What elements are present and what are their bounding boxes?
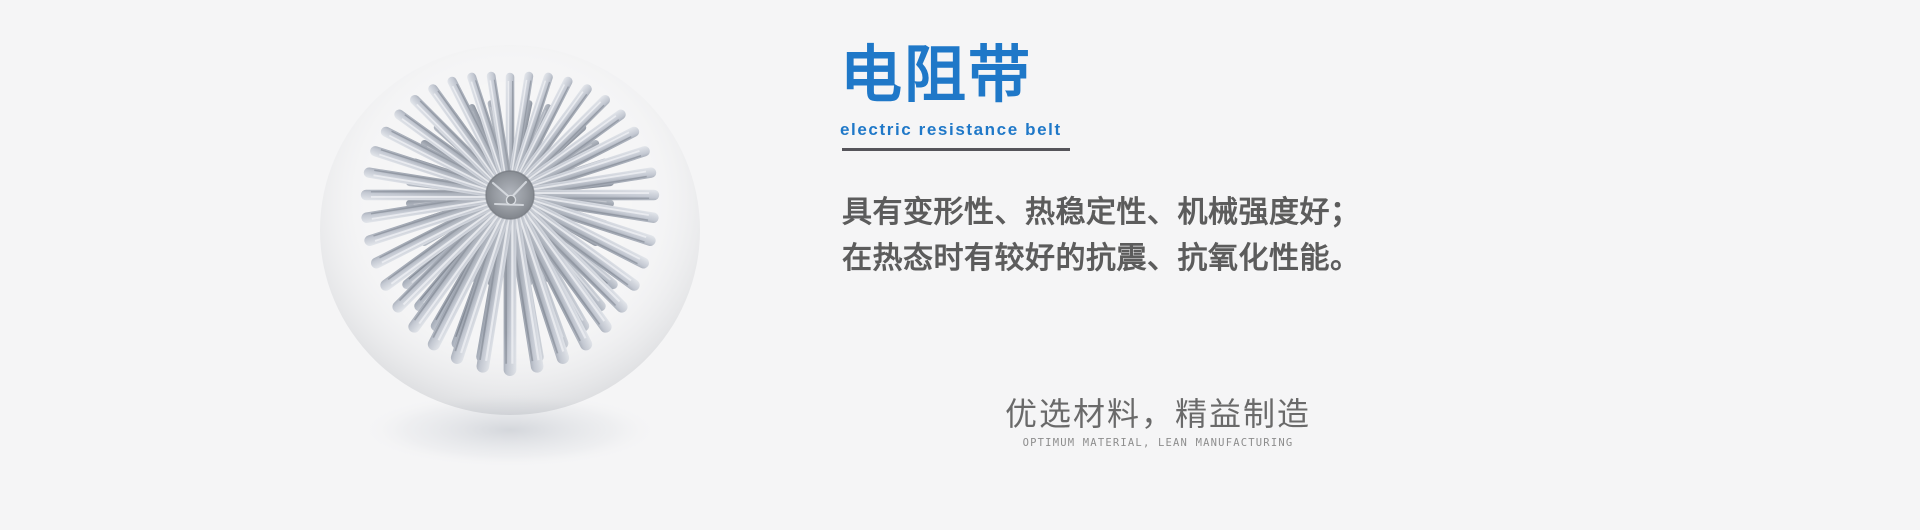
product-banner: 电阻带 electric resistance belt 具有变形性、热稳定性、… bbox=[0, 0, 1920, 530]
page-subtitle: electric resistance belt bbox=[840, 120, 1062, 140]
product-description: 具有变形性、热稳定性、机械强度好； 在热态时有较好的抗震、抗氧化性能。 bbox=[842, 190, 1482, 282]
product-image-figure bbox=[300, 30, 720, 500]
heading-block: 电阻带 electric resistance belt bbox=[840, 44, 1062, 140]
description-line-2: 在热态时有较好的抗震、抗氧化性能。 bbox=[842, 236, 1482, 282]
banner-text-column: 电阻带 electric resistance belt 具有变形性、热稳定性、… bbox=[840, 0, 1840, 530]
title-divider bbox=[842, 148, 1070, 151]
tagline-chinese: 优选材料，精益制造 bbox=[948, 393, 1368, 435]
description-line-1: 具有变形性、热稳定性、机械强度好； bbox=[842, 190, 1482, 236]
tagline-english: OPTIMUM MATERIAL, LEAN MANUFACTURING bbox=[948, 437, 1368, 449]
tagline-block: 优选材料，精益制造 OPTIMUM MATERIAL, LEAN MANUFAC… bbox=[948, 393, 1368, 449]
electric-resistance-belt-coil-photo bbox=[300, 30, 720, 500]
page-title: 电阻带 bbox=[840, 44, 1062, 106]
